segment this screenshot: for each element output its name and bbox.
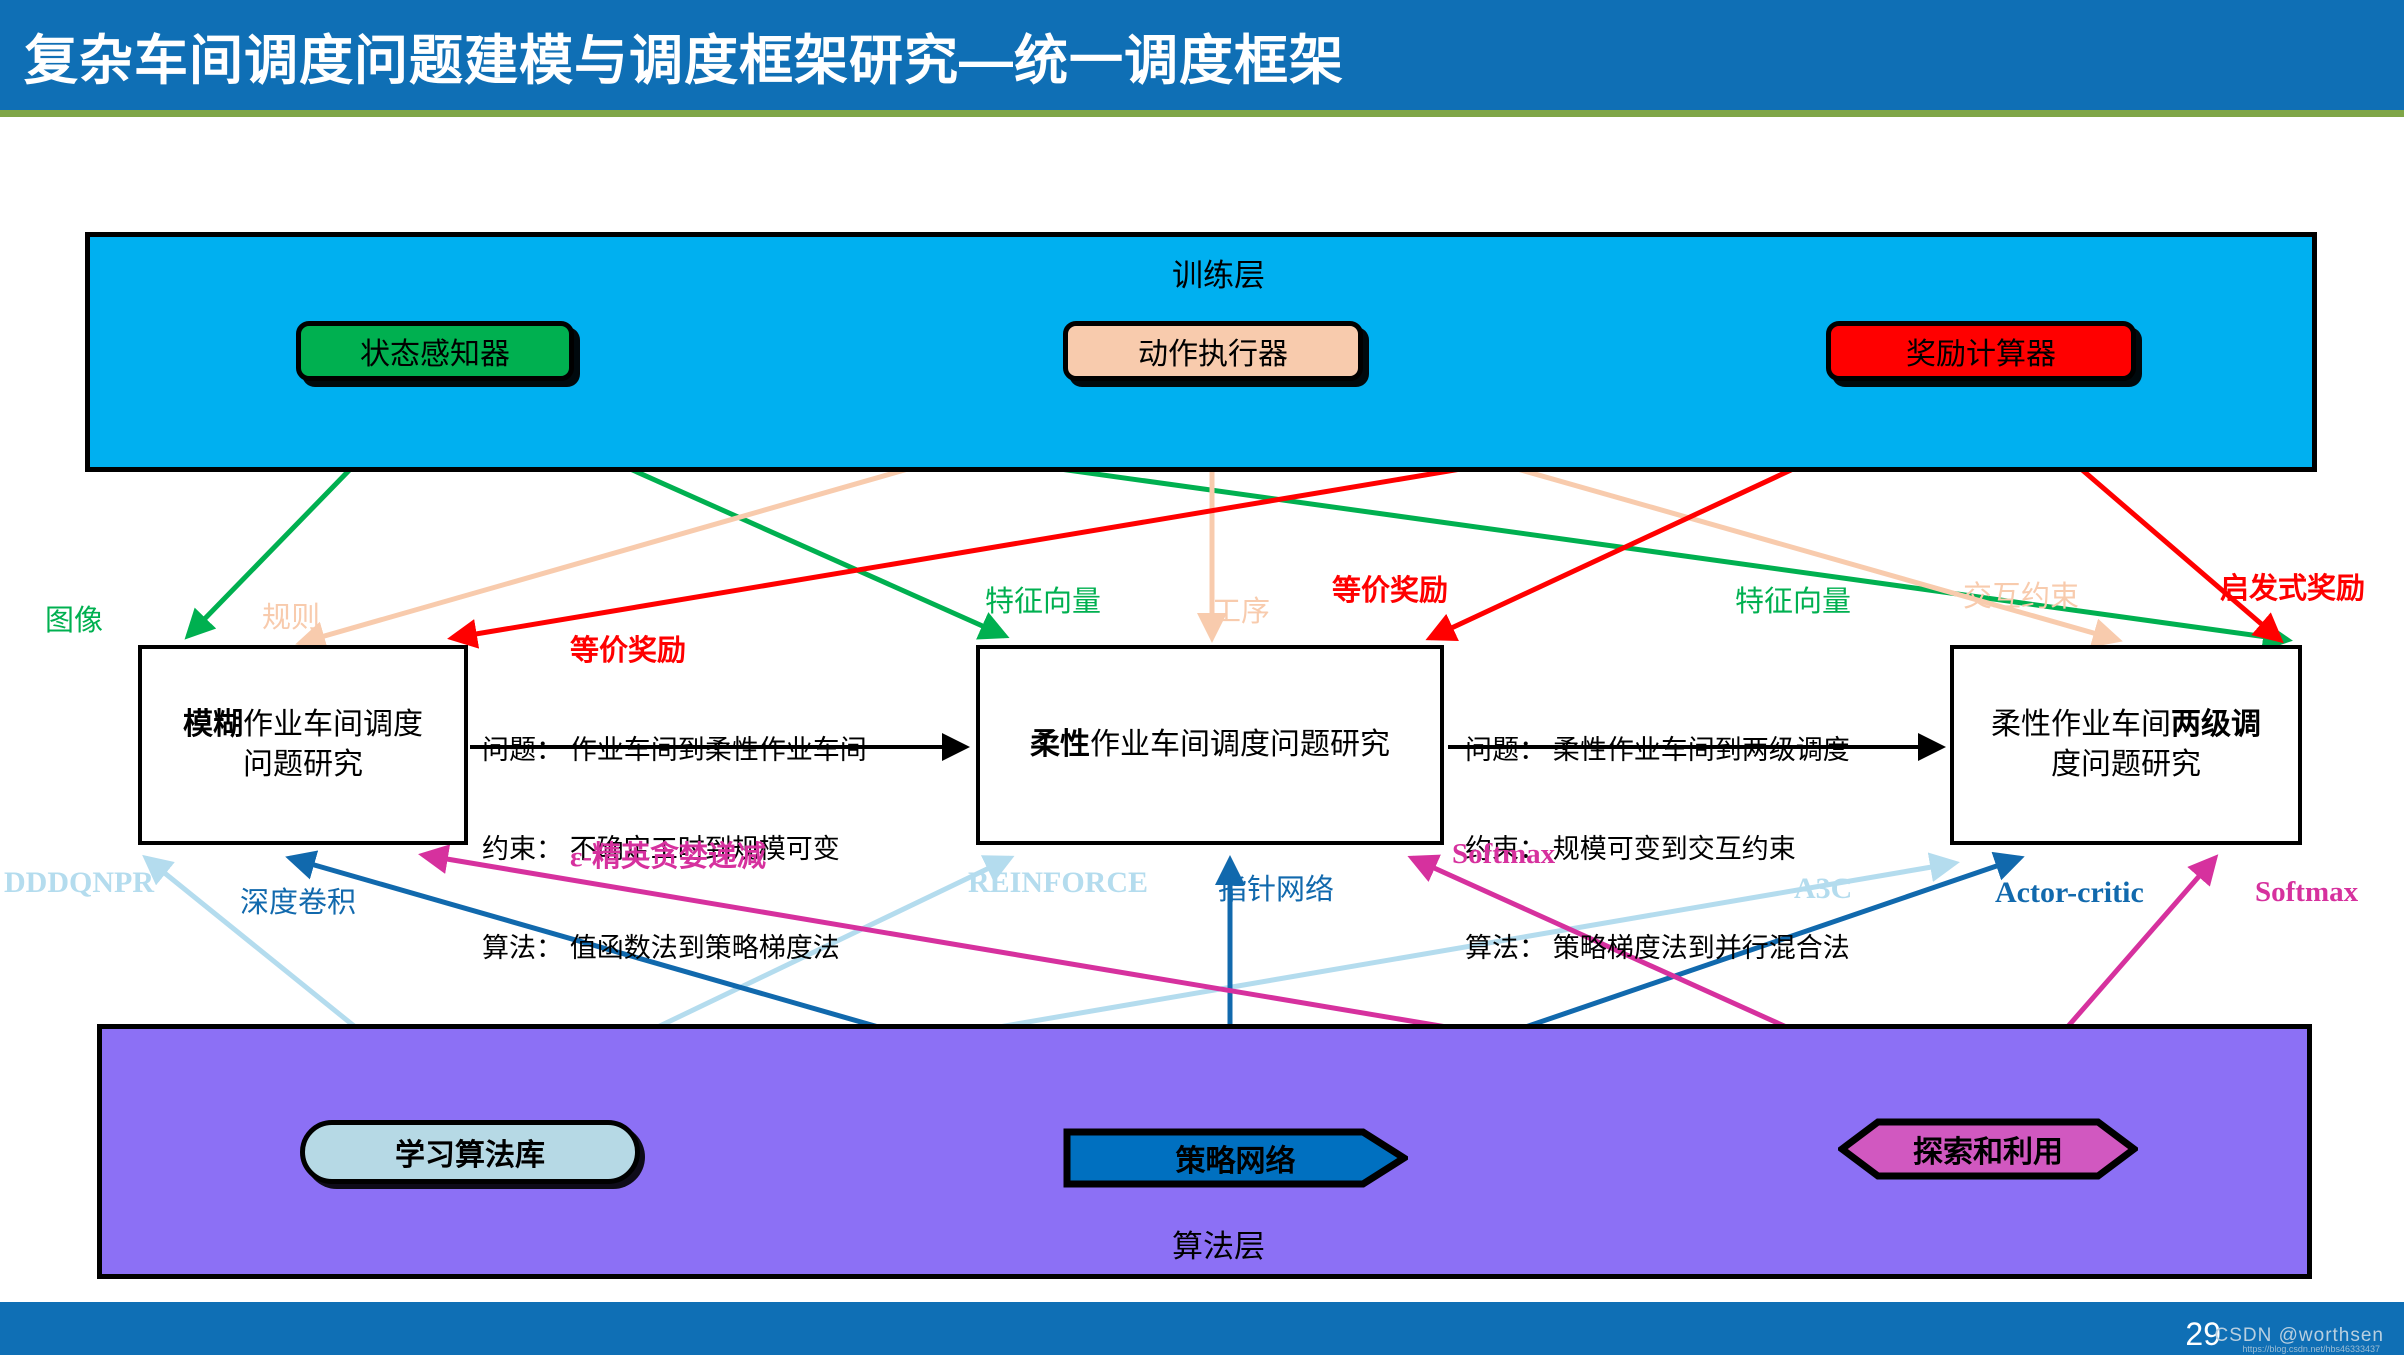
edge-label-deep-convolution: 深度卷积 (240, 879, 356, 921)
watermark-url: https://blog.csdn.net/hbs46333437 (2242, 1344, 2380, 1354)
edge-label-actor-critic: Actor-critic (1995, 876, 2144, 910)
algorithm-layer-caption: 算法层 (1172, 1221, 1265, 1266)
edge-label-a3c: A3C (1794, 872, 1852, 906)
edge-label-pointer-network: 指针网络 (1218, 866, 1334, 908)
research-box-flexible-rest: 作业车间调度问题研究 (1090, 728, 1390, 761)
edge-label-softmax-1: Softmax (1452, 838, 1555, 871)
title-underline-rule (0, 110, 2404, 117)
research-box-twolevel-prefix: 柔性作业车间 (1991, 708, 2171, 741)
algo-shape-learning-library[interactable]: 学习算法库 (300, 1120, 640, 1184)
module-action-executor[interactable]: 动作执行器 (1063, 321, 1363, 381)
footer-bar (0, 1302, 2404, 1355)
algo-shape-learning-library-label: 学习算法库 (395, 1130, 545, 1174)
edge-label-reinforce: REINFORCE (968, 866, 1148, 900)
edge-label-heuristic-reward: 启发式奖励 (2220, 565, 2365, 607)
edge-label-equivalent-reward-2: 等价奖励 (1332, 567, 1448, 609)
research-box-twolevel-line2: 度问题研究 (2051, 748, 2201, 781)
research-box-flexible[interactable]: 柔性作业车间调度问题研究 (976, 645, 1444, 845)
training-layer-caption: 训练层 (1172, 250, 1265, 295)
module-state-label: 状态感知器 (360, 329, 510, 373)
edge-label-interaction-constraint: 交互约束 (1963, 573, 2079, 615)
edge-label-softmax-2: Softmax (2255, 876, 2358, 909)
transition-description-2: 问题： 柔性作业车间到两级调度 约束： 规模可变到交互约束 算法： 策略梯度法到… (1465, 668, 1850, 997)
edge-label-feature-vector-2: 特征向量 (1735, 578, 1851, 620)
edge-label-process: 工序 (1212, 588, 1270, 630)
edge-label-dddqnpr: DDDQNPR (4, 866, 154, 900)
transition-2-line-algorithm: 算法： 策略梯度法到并行混合法 (1465, 932, 1850, 965)
research-box-fuzzy[interactable]: 模糊作业车间调度 问题研究 (138, 645, 468, 845)
algo-shape-explore-exploit-label: 探索和利用 (1838, 1118, 2138, 1180)
research-box-fuzzy-rest: 作业车间调度 (243, 708, 423, 741)
algo-shape-policy-network[interactable]: 策略网络 (1063, 1128, 1408, 1188)
title-bar: 复杂车间调度问题建模与调度框架研究—统一调度框架 (0, 0, 2404, 110)
page-title: 复杂车间调度问题建模与调度框架研究—统一调度框架 (24, 16, 1344, 95)
module-reward-calculator[interactable]: 奖励计算器 (1826, 321, 2136, 381)
edge-label-image: 图像 (45, 597, 103, 639)
algo-shape-explore-exploit[interactable]: 探索和利用 (1838, 1118, 2138, 1180)
edge-label-rule: 规则 (262, 594, 320, 636)
transition-1-line-problem: 问题： 作业车间到柔性作业车间 (482, 734, 867, 767)
transition-2-line-problem: 问题： 柔性作业车间到两级调度 (1465, 734, 1850, 767)
transition-1-line-algorithm: 算法： 值函数法到策略梯度法 (482, 932, 867, 965)
edge-label-equivalent-reward-1: 等价奖励 (570, 627, 686, 669)
research-box-fuzzy-bold: 模糊 (183, 708, 243, 741)
edge-label-feature-vector-1: 特征向量 (985, 578, 1101, 620)
research-box-twolevel[interactable]: 柔性作业车间两级调 度问题研究 (1950, 645, 2302, 845)
research-box-flexible-bold: 柔性 (1030, 728, 1090, 761)
edge-label-epsilon-elite-greedy: ε-精英贪婪递减 (570, 833, 766, 875)
module-reward-label: 奖励计算器 (1906, 329, 2056, 373)
algo-shape-policy-network-label: 策略网络 (1063, 1128, 1408, 1188)
module-action-label: 动作执行器 (1138, 329, 1288, 373)
research-box-twolevel-bold: 两级调 (2171, 708, 2261, 741)
module-state-perceptron[interactable]: 状态感知器 (296, 321, 574, 381)
research-box-fuzzy-line2: 问题研究 (243, 748, 363, 781)
